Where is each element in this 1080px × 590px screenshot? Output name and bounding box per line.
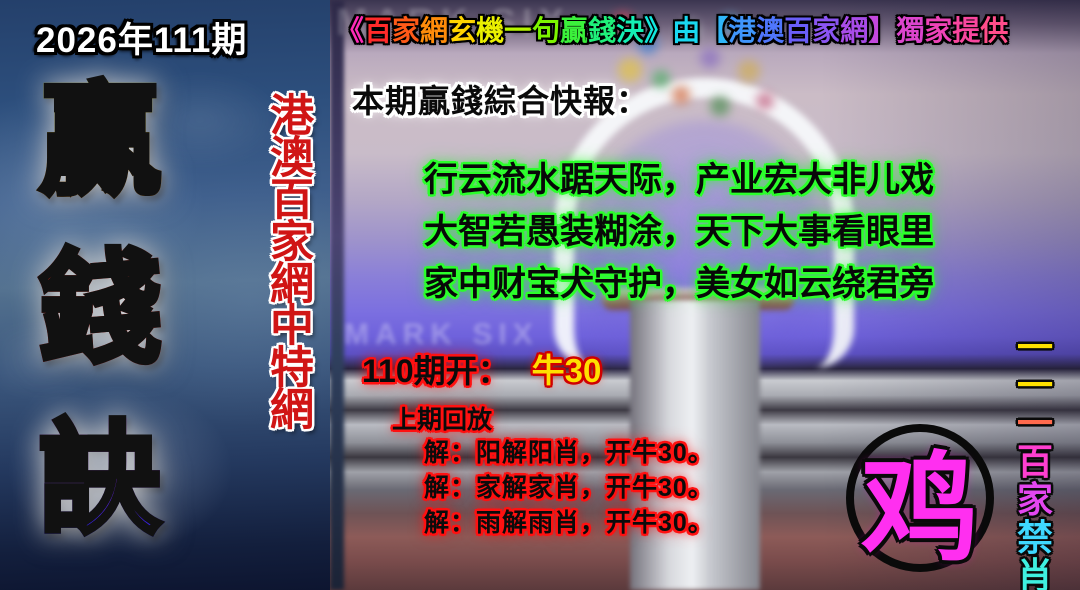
- lottery-ball-11: [756, 92, 774, 110]
- poem-block: 行云流水踞天际，产业宏大非儿戏大智若愚装糊涂，天下大事看眼里家中财宝犬守护，美女…: [424, 154, 934, 310]
- lottery-ball-3: [652, 70, 670, 88]
- vertical-label-char-1: 一: [1017, 368, 1053, 404]
- forbidden-zodiac-vertical-label: 一一一百家禁肖: [1008, 330, 1062, 590]
- banner-char-3: 網: [420, 9, 448, 49]
- banner-char-4: 玄: [448, 9, 476, 49]
- page-title-issue: 2026年111期: [36, 12, 247, 63]
- poem-line-2: 大智若愚装糊涂，天下大事看眼里: [424, 206, 934, 258]
- banner-char-9: 錢: [588, 9, 616, 49]
- banner-char-2: 家: [392, 9, 420, 49]
- zodiac-char-ji: 鸡: [846, 424, 994, 572]
- banner-char-1: 百: [364, 9, 392, 49]
- logo-char-jue: 訣: [0, 418, 200, 540]
- banner-char-17: 家: [812, 9, 840, 49]
- banner-char-12: 由: [672, 9, 700, 49]
- studio-left-strip: [330, 0, 344, 590]
- lottery-ball-10: [710, 96, 730, 116]
- banner-char-22: 提: [952, 9, 980, 49]
- banner-char-0: 《: [336, 9, 364, 49]
- vertical-label-char-0: 一: [1017, 330, 1053, 366]
- banner-char-20: 獨: [896, 9, 924, 49]
- banner-char-8: 贏: [560, 9, 588, 49]
- banner-char-5: 機: [476, 9, 504, 49]
- vertical-brand-text: 港澳百家網中特網: [232, 92, 308, 428]
- vertical-label-char-6: 肖: [1017, 558, 1053, 590]
- vertical-label-char-5: 禁: [1017, 520, 1053, 556]
- lottery-ball-8: [738, 60, 760, 82]
- banner-char-6: 一: [504, 9, 532, 49]
- banner-char-7: 句: [532, 9, 560, 49]
- banner-char-14: 港: [728, 9, 756, 49]
- banner-char-13: 【: [700, 9, 728, 49]
- previous-draw-label: 110期开：: [362, 353, 510, 389]
- top-rainbow-banner: 《百家網玄機一句贏錢決》由【港澳百家網】獨家提供: [336, 9, 1076, 49]
- banner-char-23: 供: [980, 9, 1008, 49]
- banner-char-10: 決: [616, 9, 644, 49]
- zodiac-badge: 鸡: [846, 424, 994, 572]
- vertical-label-char-3: 百: [1017, 444, 1053, 480]
- banner-char-19: 】: [868, 9, 896, 49]
- replay-section-label: 上期回放: [392, 400, 492, 436]
- banner-char-18: 網: [840, 9, 868, 49]
- poster-canvas: MARK SIX MARK SIX 贏 錢 訣 港澳百家網中特網 2026年11…: [0, 0, 1080, 590]
- section-headline: 本期贏錢綜合快報：: [352, 76, 649, 122]
- replay-lines-block: 解：阳解阳肖，开牛30。解：家解家肖，开牛30。解：雨解雨肖，开牛30。: [424, 436, 714, 541]
- replay-line-1: 解：阳解阳肖，开牛30。: [424, 436, 714, 471]
- replay-line-2: 解：家解家肖，开牛30。: [424, 471, 714, 506]
- banner-char-15: 澳: [756, 9, 784, 49]
- poem-line-1: 行云流水踞天际，产业宏大非儿戏: [424, 154, 934, 206]
- vertical-label-char-2: 一: [1017, 406, 1053, 442]
- replay-line-3: 解：雨解雨肖，开牛30。: [424, 506, 714, 541]
- banner-char-11: 》: [644, 9, 672, 49]
- banner-char-16: 百: [784, 9, 812, 49]
- vertical-label-char-4: 家: [1017, 482, 1053, 518]
- logo-char-qian: 錢: [0, 248, 200, 370]
- lottery-ball-5: [700, 48, 720, 68]
- lottery-ball-6: [672, 86, 690, 104]
- banner-char-21: 家: [924, 9, 952, 49]
- previous-draw-line: 110期开：牛30: [362, 344, 601, 392]
- previous-draw-result: 牛30: [532, 352, 602, 389]
- poem-line-3: 家中财宝犬守护，美女如云绕君旁: [424, 258, 934, 310]
- logo-char-ying: 贏: [0, 80, 200, 202]
